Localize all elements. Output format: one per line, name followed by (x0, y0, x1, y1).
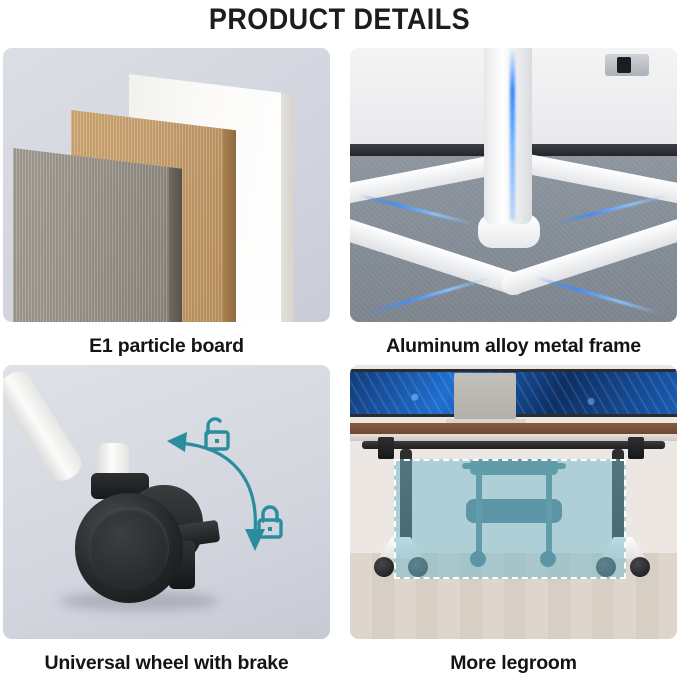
grey-board (13, 148, 169, 322)
chair-leg-upper (3, 366, 86, 486)
laptop (454, 373, 516, 419)
more-legroom-image (350, 365, 677, 639)
universal-wheel-image (3, 365, 330, 639)
detail-card-e1-particle-board: E1 particle board (3, 48, 330, 358)
particle-board-image (3, 48, 330, 322)
desk-caster-right-b (630, 557, 650, 577)
oak-board-edge (223, 129, 236, 322)
desk-caster-left-a (374, 557, 394, 577)
caption-aluminum-frame: Aluminum alloy metal frame (350, 335, 677, 358)
grey-board-edge (169, 167, 182, 322)
detail-card-universal-wheel: Universal wheel with brake (3, 365, 330, 675)
detail-card-aluminum-frame: Aluminum alloy metal frame (350, 48, 677, 358)
caption-e1-particle-board: E1 particle board (3, 335, 330, 358)
caption-universal-wheel: Universal wheel with brake (3, 652, 330, 675)
grey-board-face (13, 148, 169, 322)
page-title: PRODUCT DETAILS (34, 0, 645, 40)
desk-top (350, 423, 677, 434)
caption-more-legroom: More legroom (350, 652, 677, 675)
desk-beam (362, 441, 665, 449)
white-board-edge (281, 93, 294, 322)
curved-arrow-icon (163, 421, 273, 561)
frame-column (484, 48, 532, 224)
cable-module (605, 54, 649, 76)
detail-card-more-legroom: More legroom (350, 365, 677, 675)
legroom-highlight-area (394, 459, 626, 579)
column-glow (510, 48, 515, 220)
aluminum-frame-image (350, 48, 677, 322)
desk-bracket-left (378, 437, 394, 459)
details-grid: E1 particle board Aluminum alloy metal f… (0, 44, 679, 673)
desk-bracket-right (628, 437, 644, 459)
